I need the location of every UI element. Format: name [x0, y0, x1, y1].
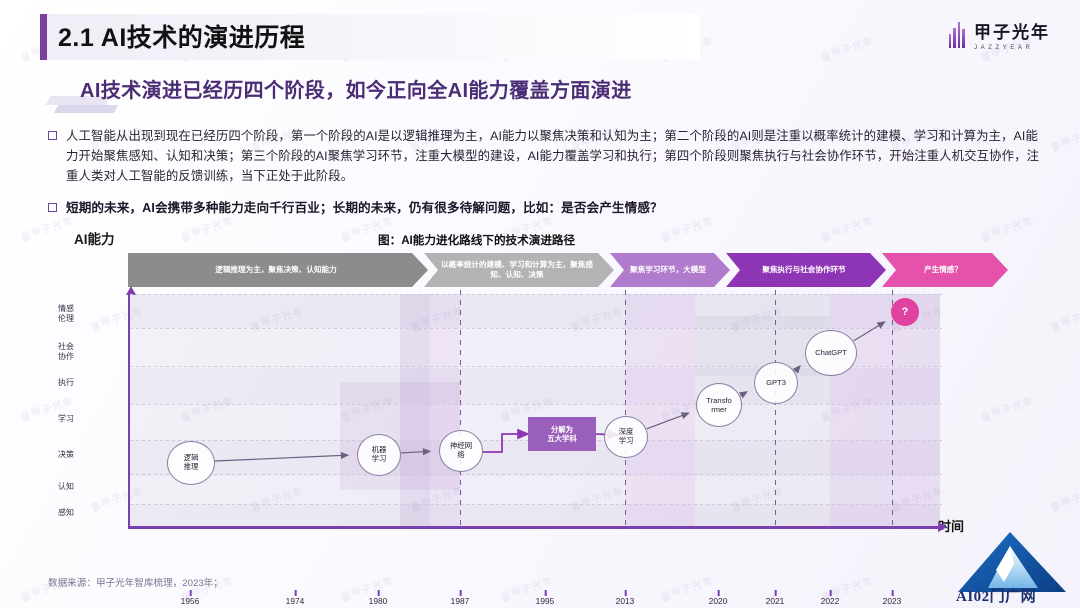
x-axis-tick-mark [190, 590, 191, 596]
y-axis-tick-label: 感知 [58, 508, 124, 518]
stage-arrow-label: 聚焦学习环节，大模型 [630, 265, 706, 275]
header-accent-bar [40, 14, 47, 60]
x-axis-tick-label: 2021 [766, 596, 785, 606]
edge [401, 451, 430, 453]
watermark-tile: 甲子光年 [1049, 122, 1080, 153]
node-label: 深度学习 [619, 428, 634, 446]
edge [482, 434, 528, 452]
watermark-tile: 甲子光年 [1049, 482, 1080, 513]
x-axis-tick-mark [830, 590, 831, 596]
bullet-item: 人工智能从出现到现在已经历四个阶段，第一个阶段的AI是以逻辑推理为主，AI能力以… [48, 126, 1048, 186]
node-ellipse[interactable]: 神经网络 [439, 430, 483, 472]
chart-y-axis-label: AI能力 [74, 228, 115, 248]
x-axis-tick-mark [545, 590, 546, 596]
node-ellipse[interactable]: GPT3 [754, 362, 798, 404]
subtitle-deco-2 [54, 105, 119, 113]
node-label: 神经网络 [450, 442, 472, 460]
slide: 甲子光年甲子光年甲子光年甲子光年甲子光年甲子光年甲子光年甲子光年甲子光年甲子光年… [0, 0, 1080, 608]
node-ellipse[interactable]: 逻辑推理 [167, 441, 215, 485]
x-axis-tick-mark [892, 590, 893, 596]
source-note: 数据来源：甲子光年智库梳理，2023年； [48, 575, 223, 589]
node-box[interactable]: 分解为五大学科 [528, 417, 596, 451]
x-axis-tick-mark [775, 590, 776, 596]
x-axis-tick-label: 2013 [616, 596, 635, 606]
node-label: 逻辑推理 [184, 454, 199, 472]
x-axis-tick-label: 2020 [709, 596, 728, 606]
stage-arrow-label: 逻辑推理为主，聚焦决策、认知能力 [215, 265, 337, 275]
x-axis-tick-label: 1974 [286, 596, 305, 606]
watermark-tile: 甲子光年 [1049, 302, 1080, 333]
edge-layer [130, 294, 940, 526]
y-axis-tick-label: 学习 [58, 414, 124, 424]
logo-bars-icon [949, 22, 967, 48]
x-axis-tick-label: 1980 [369, 596, 388, 606]
node-unknown-future[interactable]: ? [891, 298, 919, 326]
edge [795, 366, 800, 372]
corner-watermark-text: AI02门广网 [956, 585, 1036, 606]
bullet-square-icon [48, 203, 57, 212]
node-label: GPT3 [766, 378, 786, 387]
bullet-item: 短期的未来，AI会携带多种能力走向千行百业；长期的未来，仍有很多待解问题，比如：… [48, 198, 1048, 218]
node-ellipse[interactable]: 机器学习 [357, 434, 401, 476]
brand-logo: 甲子光年 JAZZYEAR [949, 18, 1050, 51]
x-axis-tick-mark [718, 590, 719, 596]
node-ellipse[interactable]: Transformer [696, 383, 742, 427]
stage-arrow-label: 产生情感？ [924, 265, 962, 275]
node-label: 分解为五大学科 [547, 425, 577, 444]
x-axis-tick-label: 1995 [536, 596, 555, 606]
node-label: 机器学习 [372, 446, 387, 464]
y-axis-tick-label: 认知 [58, 482, 124, 492]
page-title: 2.1 AI技术的演进历程 [58, 18, 305, 54]
node-ellipse[interactable]: ChatGPT [805, 330, 857, 376]
x-axis-tick-mark [625, 590, 626, 596]
x-axis-tick-label: 1956 [181, 596, 200, 606]
y-axis-tick-label: 情感伦理 [58, 304, 124, 324]
x-axis-tick-label: 2023 [883, 596, 902, 606]
node-ellipse[interactable]: 深度学习 [604, 416, 648, 458]
corner-watermark: AI02门广网 [952, 530, 1072, 608]
logo-text-en: JAZZYEAR [974, 45, 1050, 51]
stage-arrow-label: 聚焦执行与社会协作环节 [762, 265, 846, 275]
node-label: ChatGPT [815, 348, 847, 357]
x-axis-line [128, 526, 940, 529]
watermark-tile: 甲子光年 [819, 32, 875, 63]
edge [215, 455, 348, 461]
subtitle: AI技术演进已经历四个阶段，如今正向全AI能力覆盖方面演进 [80, 74, 632, 103]
bullet-square-icon [48, 131, 57, 140]
stage-arrow-4: 聚焦执行与社会协作环节 [726, 253, 886, 287]
x-axis-tick-mark [460, 590, 461, 596]
y-axis-tick-label: 执行 [58, 378, 124, 388]
node-label: ? [902, 306, 909, 318]
logo-text-cn: 甲子光年 [974, 18, 1050, 43]
node-label: Transformer [706, 396, 731, 414]
stage-arrow-2: 以概率统计的建模、学习和计算为主，聚焦感知、认知、决策 [424, 253, 614, 287]
bullet-list: 人工智能从出现到现在已经历四个阶段，第一个阶段的AI是以逻辑推理为主，AI能力以… [48, 126, 1048, 227]
x-axis-tick-label: 2022 [821, 596, 840, 606]
bullet-text: 短期的未来，AI会携带多种能力走向千行百业；长期的未来，仍有很多待解问题，比如：… [66, 198, 663, 218]
edge [647, 413, 689, 429]
watermark-tile: 甲子光年 [659, 572, 715, 603]
edge [854, 322, 885, 341]
x-axis-tick-label: 1987 [451, 596, 470, 606]
y-axis-tick-label: 决策 [58, 450, 124, 460]
stage-arrow-label: 以概率统计的建模、学习和计算为主，聚焦感知、认知、决策 [434, 260, 600, 280]
stage-arrow-5: 产生情感？ [882, 253, 1008, 287]
stage-arrow-band: 逻辑推理为主，聚焦决策、认知能力以概率统计的建模、学习和计算为主，聚焦感知、认知… [128, 253, 1008, 287]
chart-title: 图：AI能力进化路线下的技术演进路径 [378, 232, 575, 248]
bullet-text: 人工智能从出现到现在已经历四个阶段，第一个阶段的AI是以逻辑推理为主，AI能力以… [66, 126, 1048, 186]
edge [740, 392, 747, 396]
y-axis-tick-label: 社会协作 [58, 342, 124, 362]
x-axis-tick-mark [378, 590, 379, 596]
stage-arrow-1: 逻辑推理为主，聚焦决策、认知能力 [128, 253, 428, 287]
plot-area: 情感伦理社会协作执行学习决策认知感知1956197419801987199520… [128, 294, 940, 526]
stage-arrow-3: 聚焦学习环节，大模型 [610, 253, 730, 287]
subtitle-wrap: AI技术演进已经历四个阶段，如今正向全AI能力覆盖方面演进 [48, 72, 788, 114]
chart: AI能力 图：AI能力进化路线下的技术演进路径 时间 逻辑推理为主，聚焦决策、认… [48, 228, 1008, 573]
x-axis-tick-mark [295, 590, 296, 596]
